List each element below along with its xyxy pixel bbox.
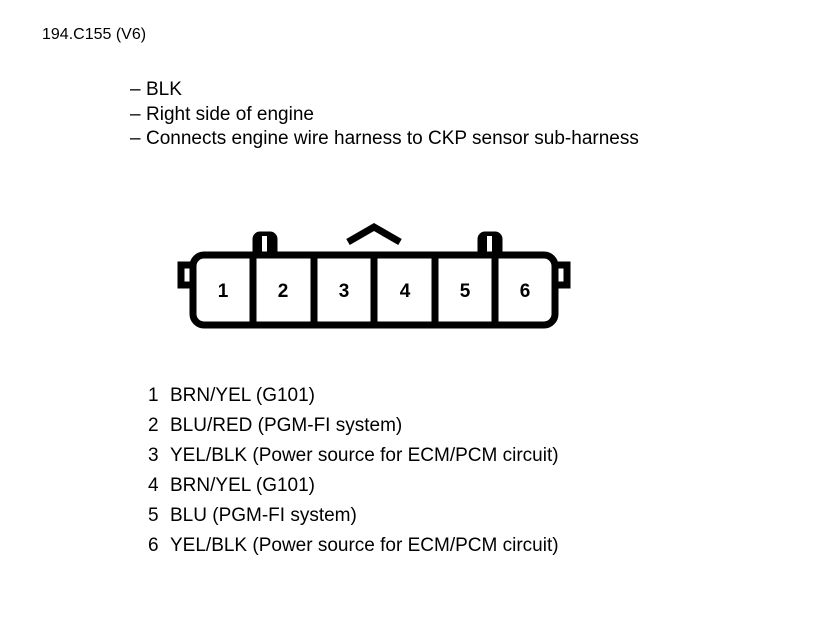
pin-number: 1 <box>148 381 170 411</box>
bullet-dash-icon: – <box>130 103 146 128</box>
pin-number: 4 <box>148 471 170 501</box>
bullet-dash-icon: – <box>130 127 146 152</box>
pin-legend-item: 3 YEL/BLK (Power source for ECM/PCM circ… <box>148 441 559 471</box>
cavity-label-4: 4 <box>400 281 411 302</box>
pin-legend-item: 4 BRN/YEL (G101) <box>148 471 559 501</box>
page-title: 194. C155 (V6) <box>42 26 146 44</box>
title-connector-name: C155 (V6) <box>73 26 146 44</box>
locking-tab-left-slit <box>262 236 267 254</box>
pin-number: 3 <box>148 441 170 471</box>
pin-legend-item: 5 BLU (PGM-FI system) <box>148 501 559 531</box>
description-text: BLK <box>146 78 182 103</box>
cavity-label-1: 1 <box>218 281 229 302</box>
pin-description: YEL/BLK (Power source for ECM/PCM circui… <box>170 441 559 471</box>
cavity-label-6: 6 <box>520 281 531 302</box>
pin-description: BLU (PGM-FI system) <box>170 501 357 531</box>
bullet-dash-icon: – <box>130 78 146 103</box>
connector-diagram: 1 2 3 4 5 6 <box>175 222 587 330</box>
pin-description: BRN/YEL (G101) <box>170 381 315 411</box>
alignment-peak-icon <box>348 227 400 242</box>
pin-description: YEL/BLK (Power source for ECM/PCM circui… <box>170 531 559 561</box>
description-item: – Right side of engine <box>130 103 639 128</box>
pin-legend-list: 1 BRN/YEL (G101) 2 BLU/RED (PGM-FI syste… <box>148 381 559 561</box>
pin-description: BRN/YEL (G101) <box>170 471 315 501</box>
pin-legend-item: 1 BRN/YEL (G101) <box>148 381 559 411</box>
description-text: Right side of engine <box>146 103 314 128</box>
locking-tab-right-slit <box>487 236 492 254</box>
pin-number: 5 <box>148 501 170 531</box>
pin-number: 6 <box>148 531 170 561</box>
cavity-label-2: 2 <box>278 281 289 302</box>
pin-legend-item: 2 BLU/RED (PGM-FI system) <box>148 411 559 441</box>
pin-description: BLU/RED (PGM-FI system) <box>170 411 402 441</box>
pin-number: 2 <box>148 411 170 441</box>
pin-legend-item: 6 YEL/BLK (Power source for ECM/PCM circ… <box>148 531 559 561</box>
description-text: Connects engine wire harness to CKP sens… <box>146 127 639 152</box>
connector-outline-drawing: 1 2 3 4 5 6 <box>175 222 587 330</box>
description-item: – BLK <box>130 78 639 103</box>
title-number: 194. <box>42 26 73 44</box>
cavity-label-3: 3 <box>339 281 350 302</box>
description-item: – Connects engine wire harness to CKP se… <box>130 127 639 152</box>
connector-description-list: – BLK – Right side of engine – Connects … <box>130 78 639 152</box>
cavity-label-5: 5 <box>460 281 471 302</box>
